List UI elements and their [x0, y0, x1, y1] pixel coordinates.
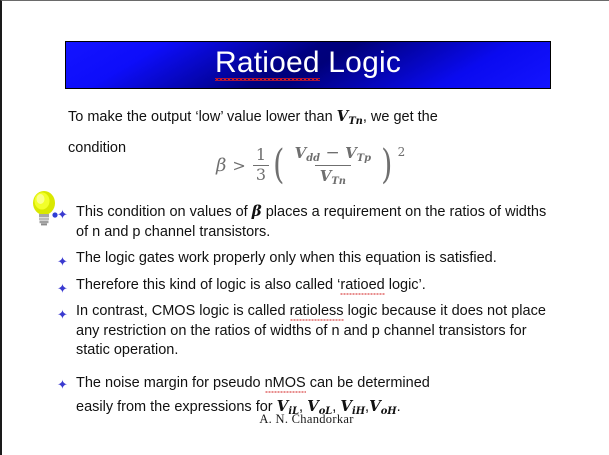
formula-beta: β [216, 155, 226, 176]
intro-math-vtn: VTn [337, 107, 363, 125]
formula-minus: − [325, 143, 339, 163]
bullet-beta-symbol: β [252, 202, 262, 220]
bullet-ratioed-logic: Therefore this kind of logic is also cal… [76, 276, 557, 296]
bullet-beta-ratio-part1: This condition on values of [76, 204, 252, 220]
intro-math-vtn-sub: Tn [348, 116, 363, 127]
formula-vdd: Vdd [295, 144, 320, 162]
lightbulb-icon [31, 190, 59, 226]
formula-fraction-denominator: VTn [315, 165, 351, 187]
bullet-ratioed-after: logic’. [385, 277, 426, 293]
bullet-cmos-ratioless: In contrast, CMOS logic is called ratiol… [76, 302, 557, 361]
bullet-marker-icon: ✦ [57, 249, 76, 268]
slide-title-banner: Ratioed Logic [65, 41, 551, 89]
bullet-nmos-misspelled: nMOS [265, 375, 306, 393]
intro-line1-after: , we get the [363, 109, 438, 125]
formula-main-fraction: Vdd − VTp VTn [290, 144, 376, 187]
bullet-marker-icon: ✦ [57, 302, 76, 321]
intro-line1-before: To make the output ‘low’ value lower tha… [68, 109, 337, 125]
page-title: Ratioed Logic [215, 48, 401, 83]
formula-vdd-base: V [295, 144, 307, 162]
formula-relation: > [232, 156, 245, 175]
formula-coefficient-denominator: 3 [253, 165, 269, 184]
formula-vtn-base: V [320, 167, 332, 185]
title-remainder: Logic [320, 46, 401, 79]
formula-coefficient-fraction: 1 3 [253, 147, 269, 184]
formula-vtp: VTp [345, 144, 371, 162]
title-misspelled-word: Ratioed [215, 48, 320, 81]
list-item: ✦ The logic gates work properly only whe… [57, 249, 557, 269]
formula-left-paren: ( [273, 149, 284, 182]
bullet-marker-icon: ✦ [57, 276, 76, 295]
display-formula: β > 1 3 ( Vdd − VTp VTn ) 2 [216, 144, 405, 187]
bullet-ratioless-before: In contrast, CMOS logic is called [76, 303, 290, 319]
bullet-marker-icon: ✦ [57, 202, 76, 221]
formula-exponent: 2 [398, 145, 406, 159]
formula-fraction-numerator: Vdd − VTp [290, 144, 376, 165]
list-item: ✦ Therefore this kind of logic is also c… [57, 276, 557, 296]
formula-vdd-sub: dd [306, 153, 320, 164]
formula-vtp-base: V [345, 144, 357, 162]
formula-vtn: VTn [320, 167, 346, 185]
bullet-logic-gates: The logic gates work properly only when … [76, 249, 557, 269]
intro-math-vtn-base: V [337, 107, 349, 125]
formula-vtn-sub: Tn [331, 176, 346, 187]
bullet-ratioed-misspelled: ratioed [340, 277, 384, 295]
formula-right-paren: ) [381, 149, 392, 182]
bullet-noise-before: The noise margin for pseudo [76, 375, 265, 391]
list-item: ✦ In contrast, CMOS logic is called rati… [57, 302, 557, 361]
bullet-list: ✦ This condition on values of β places a… [57, 202, 557, 429]
formula-vtp-sub: Tp [357, 153, 371, 164]
bullet-beta-ratio: This condition on values of β places a r… [76, 202, 557, 242]
presentation-slide: Ratioed Logic To make the output ‘low’ v… [0, 0, 609, 455]
slide-footer-author: A. N. Chandorkar [2, 412, 609, 427]
formula-coefficient-numerator: 1 [253, 147, 269, 165]
bullet-noise-after: can be determined [306, 375, 430, 391]
bullet-ratioed-before: Therefore this kind of logic is also cal… [76, 277, 340, 293]
bullet-marker-icon: ✦ [57, 372, 76, 391]
bullet-ratioless-misspelled: ratioless [290, 303, 344, 321]
list-item: ✦ This condition on values of β places a… [57, 202, 557, 242]
